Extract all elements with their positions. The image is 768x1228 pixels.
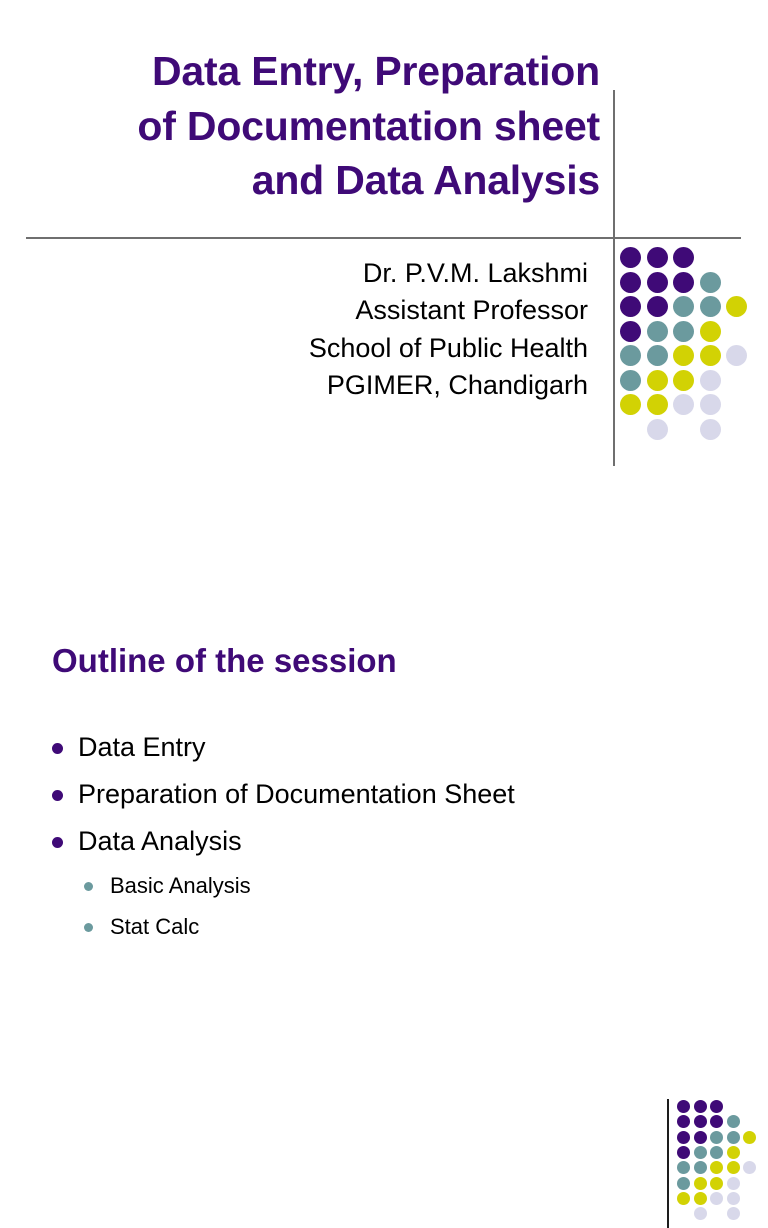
presenter-info: Dr. P.V.M. Lakshmi Assistant Professor S… bbox=[140, 255, 588, 405]
dot-purple bbox=[677, 1115, 690, 1128]
dot-teal bbox=[694, 1161, 707, 1174]
dot-lavender bbox=[694, 1207, 707, 1220]
presenter-role: Assistant Professor bbox=[140, 292, 588, 329]
dot-yellow bbox=[647, 370, 668, 391]
outline-heading: Outline of the session bbox=[52, 642, 397, 680]
dot-yellow bbox=[677, 1192, 690, 1205]
dot-purple bbox=[694, 1131, 707, 1144]
dot-yellow bbox=[700, 321, 721, 342]
dot-purple bbox=[710, 1115, 723, 1128]
dot-yellow bbox=[673, 345, 694, 366]
dot-purple bbox=[647, 296, 668, 317]
dot-purple bbox=[620, 272, 641, 293]
dot-teal bbox=[673, 296, 694, 317]
dot-teal bbox=[673, 321, 694, 342]
dot-lavender bbox=[743, 1161, 756, 1174]
presenter-department: School of Public Health bbox=[140, 330, 588, 367]
dot-purple bbox=[620, 247, 641, 268]
dot-yellow bbox=[727, 1146, 740, 1159]
outline-list: Data EntryPreparation of Documentation S… bbox=[44, 724, 664, 947]
dot-lavender bbox=[727, 1192, 740, 1205]
dot-yellow bbox=[673, 370, 694, 391]
dot-purple bbox=[694, 1100, 707, 1113]
outline-item-label: Stat Calc bbox=[110, 906, 199, 947]
dot-yellow bbox=[694, 1192, 707, 1205]
dot-lavender bbox=[647, 419, 668, 440]
dot-teal bbox=[727, 1115, 740, 1128]
decorative-dot-grid bbox=[620, 247, 756, 439]
title-slide: Data Entry, Preparation of Documentation… bbox=[0, 0, 768, 512]
dot-purple bbox=[673, 272, 694, 293]
page-title-line-1: Data Entry, Preparation bbox=[28, 44, 600, 99]
dot-yellow bbox=[710, 1161, 723, 1174]
page-title-line-3: and Data Analysis bbox=[28, 153, 600, 208]
outline-item: Preparation of Documentation Sheet bbox=[44, 771, 664, 818]
dot-teal bbox=[700, 296, 721, 317]
dot-lavender bbox=[700, 370, 721, 391]
dot-teal bbox=[710, 1146, 723, 1159]
dot-lavender bbox=[726, 345, 747, 366]
outline-item-label: Data Analysis bbox=[78, 818, 242, 865]
dot-purple bbox=[710, 1100, 723, 1113]
decorative-dot-grid-small bbox=[677, 1100, 761, 1220]
page-title-line-2: of Documentation sheet bbox=[28, 99, 600, 154]
dot-lavender bbox=[727, 1177, 740, 1190]
dot-teal bbox=[700, 272, 721, 293]
dot-purple bbox=[647, 247, 668, 268]
outline-slide: Outline of the session Data EntryPrepara… bbox=[0, 512, 768, 1024]
dot-yellow bbox=[726, 296, 747, 317]
dot-yellow bbox=[620, 394, 641, 415]
horizontal-divider bbox=[26, 237, 741, 239]
dot-purple bbox=[673, 247, 694, 268]
dot-purple bbox=[677, 1131, 690, 1144]
dot-lavender bbox=[727, 1207, 740, 1220]
dot-teal bbox=[647, 345, 668, 366]
dot-yellow bbox=[694, 1177, 707, 1190]
dot-purple bbox=[677, 1146, 690, 1159]
dot-purple bbox=[620, 321, 641, 342]
bullet-icon bbox=[52, 837, 63, 848]
dot-teal bbox=[620, 370, 641, 391]
vertical-divider bbox=[613, 90, 615, 466]
dot-yellow bbox=[647, 394, 668, 415]
outline-item: Basic Analysis bbox=[44, 865, 664, 906]
dot-purple bbox=[694, 1115, 707, 1128]
dot-teal bbox=[710, 1131, 723, 1144]
bullet-icon bbox=[52, 790, 63, 801]
dot-teal bbox=[677, 1161, 690, 1174]
dot-lavender bbox=[700, 394, 721, 415]
bullet-icon bbox=[84, 923, 93, 932]
dot-teal bbox=[647, 321, 668, 342]
outline-item-label: Data Entry bbox=[78, 724, 206, 771]
dot-yellow bbox=[743, 1131, 756, 1144]
dot-teal bbox=[694, 1146, 707, 1159]
page-title: Data Entry, Preparation of Documentation… bbox=[28, 44, 600, 208]
outline-item: Stat Calc bbox=[44, 906, 664, 947]
dot-yellow bbox=[727, 1161, 740, 1174]
dot-lavender bbox=[700, 419, 721, 440]
dot-purple bbox=[677, 1100, 690, 1113]
outline-item-label: Preparation of Documentation Sheet bbox=[78, 771, 515, 818]
dot-purple bbox=[620, 296, 641, 317]
dot-yellow bbox=[710, 1177, 723, 1190]
dot-yellow bbox=[700, 345, 721, 366]
presenter-name: Dr. P.V.M. Lakshmi bbox=[140, 255, 588, 292]
dot-teal bbox=[620, 345, 641, 366]
dot-purple bbox=[647, 272, 668, 293]
bullet-icon bbox=[84, 882, 93, 891]
dot-lavender bbox=[710, 1192, 723, 1205]
bullet-icon bbox=[52, 743, 63, 754]
outline-item: Data Analysis bbox=[44, 818, 664, 865]
dot-lavender bbox=[673, 394, 694, 415]
outline-item-label: Basic Analysis bbox=[110, 865, 251, 906]
presenter-institute: PGIMER, Chandigarh bbox=[140, 367, 588, 404]
outline-item: Data Entry bbox=[44, 724, 664, 771]
dot-teal bbox=[727, 1131, 740, 1144]
outline-vertical-divider bbox=[667, 1099, 669, 1228]
dot-teal bbox=[677, 1177, 690, 1190]
